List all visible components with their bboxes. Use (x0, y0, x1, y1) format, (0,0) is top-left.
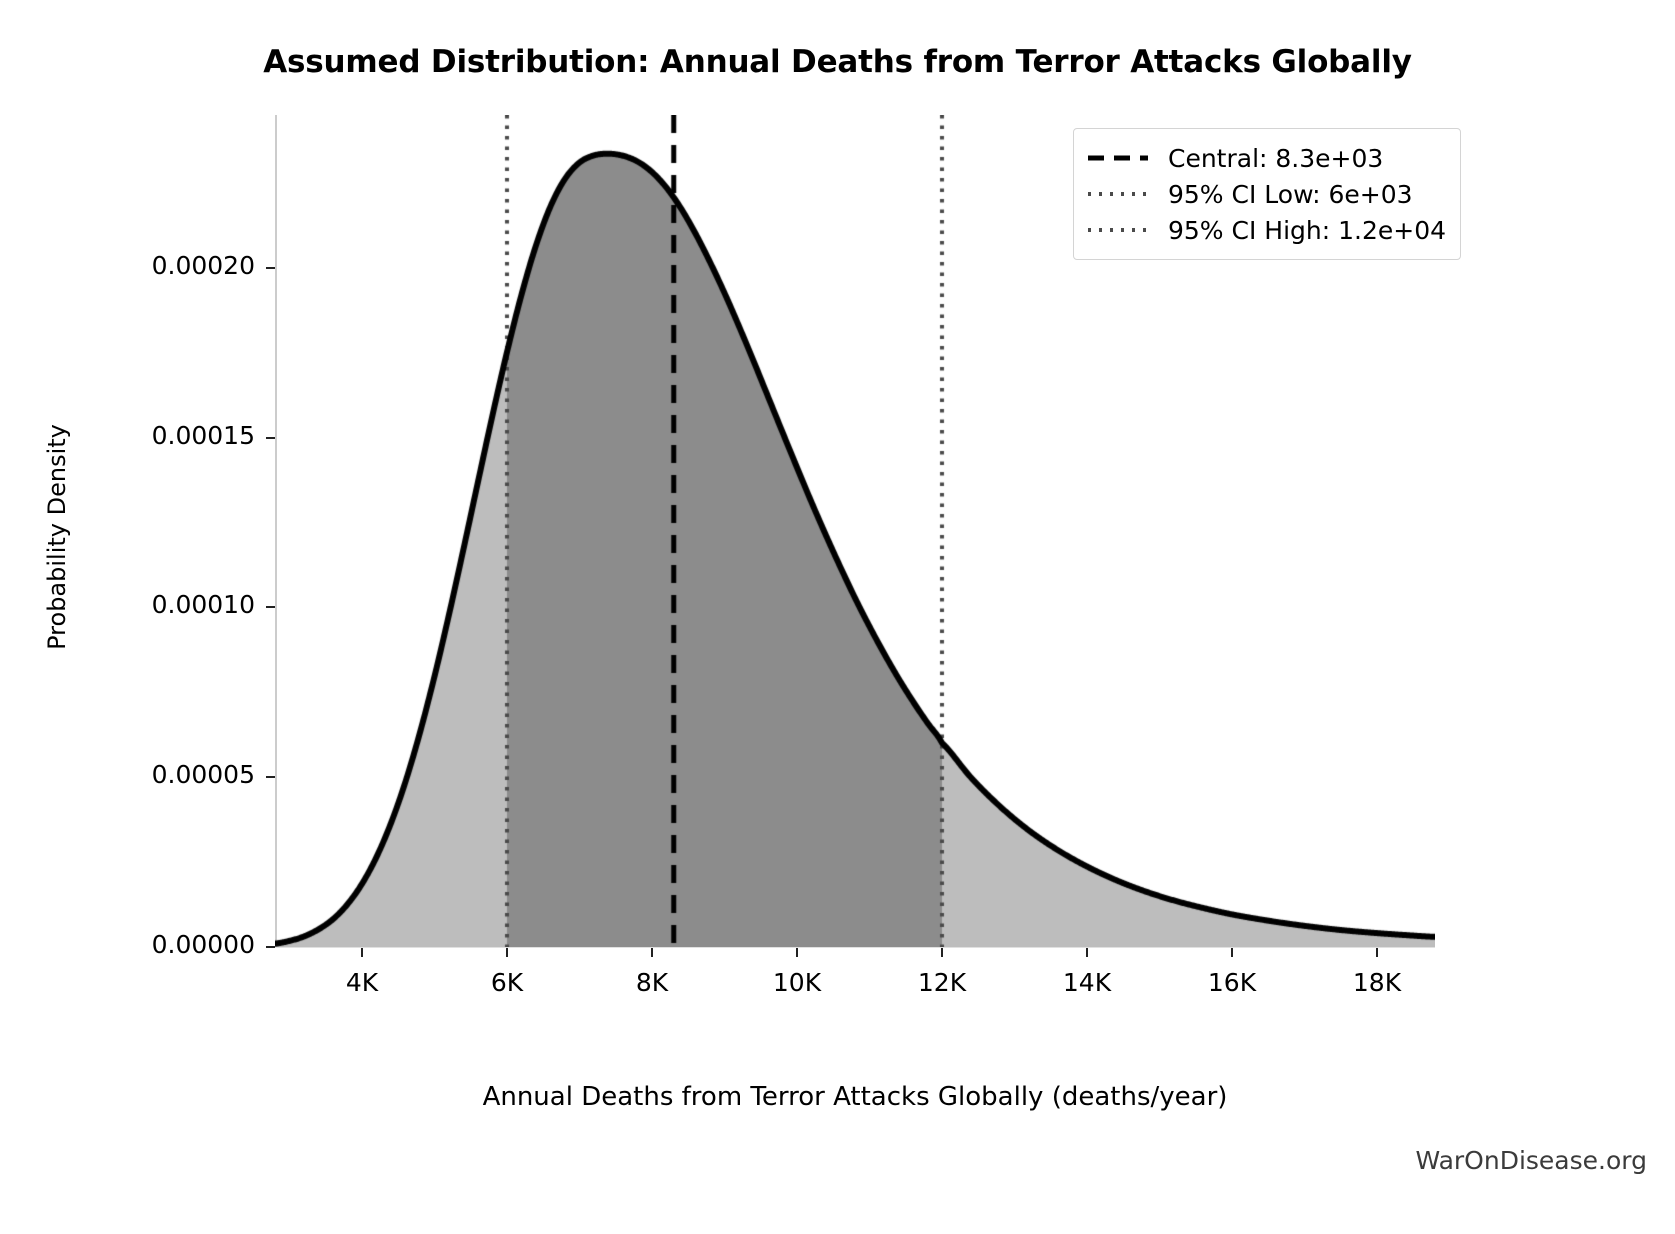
x-tick-mark (1376, 948, 1378, 957)
y-tick-mark (266, 437, 275, 439)
y-tick-mark (266, 267, 275, 269)
legend-item: 95% CI Low: 6e+03 (1086, 176, 1446, 212)
legend-label: Central: 8.3e+03 (1168, 144, 1383, 173)
attribution-footer: WarOnDisease.org (1415, 1146, 1647, 1175)
x-tick-mark (361, 948, 363, 957)
legend-item: 95% CI High: 1.2e+04 (1086, 212, 1446, 248)
dotted-line-icon (1086, 184, 1150, 204)
dotted-line-icon (1086, 220, 1150, 240)
chart-title: Assumed Distribution: Annual Deaths from… (0, 44, 1675, 80)
x-axis-label: Annual Deaths from Terror Attacks Global… (275, 1082, 1435, 1112)
x-tick-label: 18K (1287, 968, 1467, 997)
y-tick-mark (266, 606, 275, 608)
y-axis-label: Probability Density (43, 237, 71, 837)
y-tick-label: 0.00000 (5, 930, 255, 959)
dashed-line-icon (1086, 148, 1150, 168)
chart-legend: Central: 8.3e+0395% CI Low: 6e+0395% CI … (1073, 128, 1461, 260)
x-tick-mark (506, 948, 508, 957)
y-tick-mark (266, 946, 275, 948)
x-tick-mark (1086, 948, 1088, 957)
legend-item: Central: 8.3e+03 (1086, 140, 1446, 176)
legend-label: 95% CI High: 1.2e+04 (1168, 216, 1446, 245)
x-tick-mark (796, 948, 798, 957)
chart-figure: Assumed Distribution: Annual Deaths from… (0, 0, 1675, 1234)
legend-label: 95% CI Low: 6e+03 (1168, 180, 1413, 209)
x-tick-mark (941, 948, 943, 957)
x-tick-mark (651, 948, 653, 957)
y-tick-mark (266, 776, 275, 778)
x-tick-mark (1231, 948, 1233, 957)
